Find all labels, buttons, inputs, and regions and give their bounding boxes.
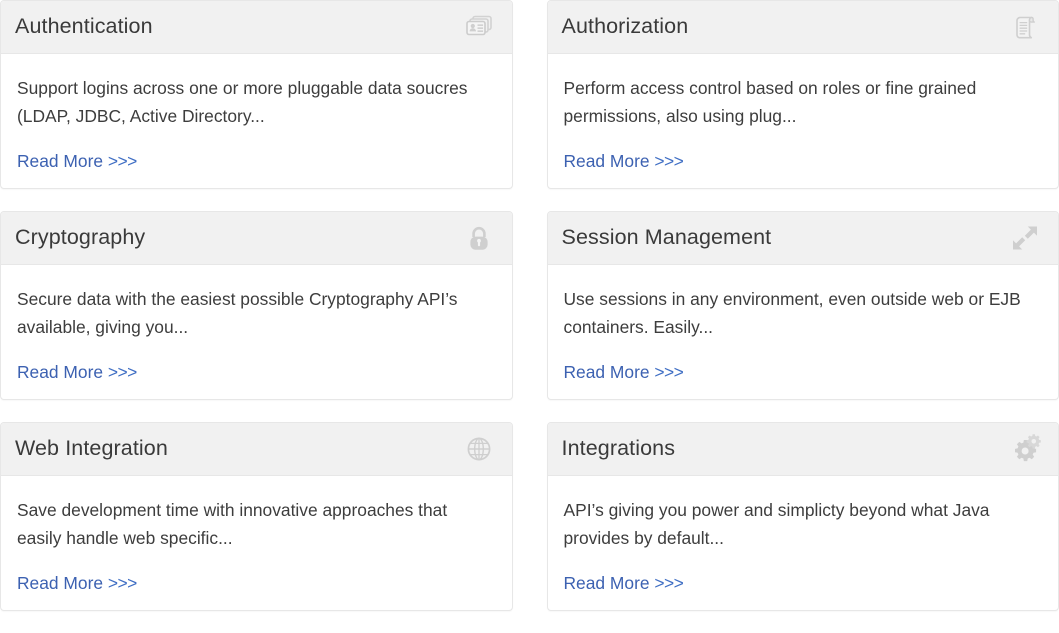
- grid-column-left: Authentication Support logins acro: [0, 0, 530, 633]
- read-more-chevrons: >>>: [108, 573, 137, 593]
- id-card-icon: [460, 8, 498, 46]
- panel-title: Web Integration: [15, 436, 168, 462]
- read-more-link[interactable]: Read More >>>: [17, 572, 137, 594]
- read-more-label: Read More: [17, 573, 108, 593]
- panel-body: Save development time with innovative ap…: [1, 476, 512, 610]
- read-more-label: Read More: [17, 151, 108, 171]
- panel-title: Authorization: [562, 14, 689, 40]
- panel-heading: Authorization: [548, 1, 1059, 54]
- read-more-label: Read More: [17, 362, 108, 382]
- panel-heading: Integrations: [548, 423, 1059, 476]
- feature-panel-cryptography: Cryptography Secure data with the easies…: [0, 211, 513, 400]
- gears-icon: [1006, 430, 1044, 468]
- panel-title: Session Management: [562, 225, 772, 251]
- panel-body: Secure data with the easiest possible Cr…: [1, 265, 512, 399]
- panel-body: API’s giving you power and simplicty bey…: [548, 476, 1059, 610]
- feature-panel-grid: Authentication Support logins acro: [0, 0, 1059, 633]
- panel-heading: Authentication: [1, 1, 512, 54]
- read-more-chevrons: >>>: [654, 362, 683, 382]
- panel-title: Authentication: [15, 14, 153, 40]
- feature-panel-web-integration: Web Integration Save development time wi…: [0, 422, 513, 611]
- padlock-icon: [460, 219, 498, 257]
- scroll-document-icon: [1006, 8, 1044, 46]
- read-more-link[interactable]: Read More >>>: [564, 150, 684, 172]
- panel-description: Use sessions in any environment, even ou…: [564, 285, 1034, 341]
- panel-heading: Cryptography: [1, 212, 512, 265]
- panel-title: Integrations: [562, 436, 676, 462]
- panel-description: API’s giving you power and simplicty bey…: [564, 496, 1034, 552]
- globe-icon: [460, 430, 498, 468]
- panel-description: Save development time with innovative ap…: [17, 496, 487, 552]
- panel-title: Cryptography: [15, 225, 145, 251]
- read-more-link[interactable]: Read More >>>: [17, 150, 137, 172]
- panel-description: Secure data with the easiest possible Cr…: [17, 285, 487, 341]
- panel-heading: Session Management: [548, 212, 1059, 265]
- read-more-link[interactable]: Read More >>>: [17, 361, 137, 383]
- exchange-arrows-icon: [1006, 219, 1044, 257]
- panel-heading: Web Integration: [1, 423, 512, 476]
- read-more-label: Read More: [564, 362, 655, 382]
- panel-description: Support logins across one or more plugga…: [17, 74, 487, 130]
- read-more-chevrons: >>>: [654, 151, 683, 171]
- read-more-chevrons: >>>: [108, 362, 137, 382]
- feature-panel-authentication: Authentication Support logins acro: [0, 0, 513, 189]
- panel-body: Use sessions in any environment, even ou…: [548, 265, 1059, 399]
- read-more-chevrons: >>>: [654, 573, 683, 593]
- panel-description: Perform access control based on roles or…: [564, 74, 1034, 130]
- feature-panel-authorization: Authorization Perform access control bas…: [547, 0, 1059, 189]
- panel-body: Support logins across one or more plugga…: [1, 54, 512, 188]
- panel-body: Perform access control based on roles or…: [548, 54, 1059, 188]
- feature-panel-session-management: Session Management Use sessions in any e…: [547, 211, 1059, 400]
- read-more-chevrons: >>>: [108, 151, 137, 171]
- read-more-label: Read More: [564, 151, 655, 171]
- feature-panel-integrations: Integrations API’s giving you power and …: [547, 422, 1059, 611]
- read-more-link[interactable]: Read More >>>: [564, 572, 684, 594]
- grid-column-right: Authorization Perform access control bas…: [530, 0, 1059, 633]
- read-more-label: Read More: [564, 573, 655, 593]
- read-more-link[interactable]: Read More >>>: [564, 361, 684, 383]
